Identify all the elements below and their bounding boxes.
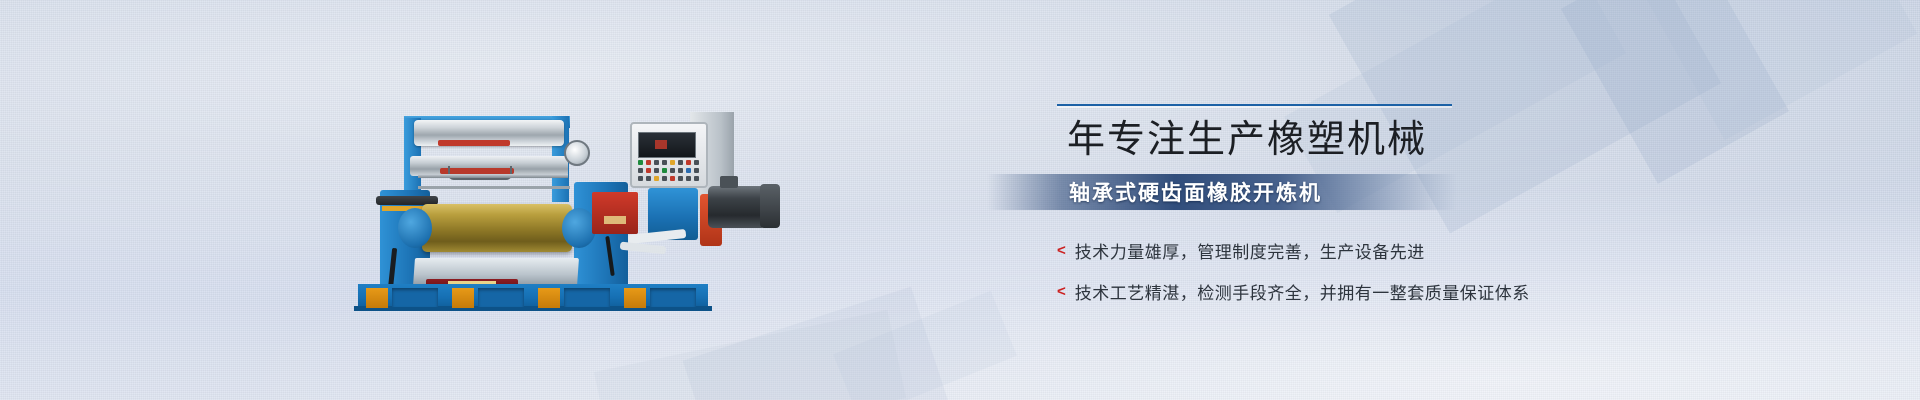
headline-divider-rule <box>1057 104 1452 106</box>
machine-foot-pad <box>452 288 474 308</box>
feature-bullet-item: < 技术力量雄厚，管理制度完善，生产设备先进 <box>1057 238 1615 263</box>
promo-banner: 年专注生产橡塑机械 轴承式硬齿面橡胶开炼机 < 技术力量雄厚，管理制度完善，生产… <box>0 0 1920 400</box>
background-texture-noise <box>0 0 1920 400</box>
machine-foot-pad <box>538 288 560 308</box>
feature-bullet-text: 技术力量雄厚，管理制度完善，生产设备先进 <box>1075 238 1425 263</box>
machine-panel-button-row-3 <box>638 176 699 181</box>
subtitle-text: 轴承式硬齿面橡胶开炼机 <box>1069 177 1322 207</box>
machine-base-bay <box>564 288 610 307</box>
machine-motor-end-cap <box>760 184 780 228</box>
feature-bullet-text: 技术工艺精湛，检测手段齐全，并拥有一整套质量保证体系 <box>1075 279 1530 304</box>
machine-panel-readout <box>655 140 667 149</box>
feature-bullet-item: < 技术工艺精湛，检测手段齐全，并拥有一整套质量保证体系 <box>1057 279 1615 304</box>
product-image-rubber-mixing-mill <box>352 112 724 320</box>
feature-bullet-list: < 技术力量雄厚，管理制度完善，生产设备先进 < 技术工艺精湛，检测手段齐全，并… <box>1055 238 1615 304</box>
subtitle-bar: 轴承式硬齿面橡胶开炼机 <box>987 174 1457 210</box>
machine-panel-button-row-2 <box>638 168 699 173</box>
machine-control-panel-screen <box>638 132 696 158</box>
machine-panel-button-row-1 <box>638 160 699 165</box>
machine-bearing-cap-left <box>398 208 432 248</box>
machine-red-bar-upper <box>438 140 510 146</box>
machine-base-bay <box>478 288 524 307</box>
machine-tie-rod-upper <box>418 174 568 178</box>
machine-base-bay <box>392 288 438 307</box>
machine-motor-terminal-box <box>720 176 738 188</box>
headline-text: 年专注生产橡塑机械 <box>1055 120 1615 162</box>
machine-foot-pad <box>366 288 388 308</box>
machine-tie-rod-lower <box>418 186 570 189</box>
machine-red-junction-box <box>592 192 638 234</box>
machine-main-brass-roller <box>422 204 572 252</box>
chevron-left-icon: < <box>1057 284 1066 299</box>
machine-foot-pad <box>624 288 646 308</box>
machine-electric-motor <box>708 186 766 228</box>
machine-base-bay <box>650 288 696 307</box>
machine-bearing-cap-right <box>562 208 596 248</box>
banner-copy-block: 年专注生产橡塑机械 轴承式硬齿面橡胶开炼机 < 技术力量雄厚，管理制度完善，生产… <box>1055 104 1615 320</box>
machine-handwheel <box>564 140 590 166</box>
chevron-left-icon: < <box>1057 243 1066 258</box>
